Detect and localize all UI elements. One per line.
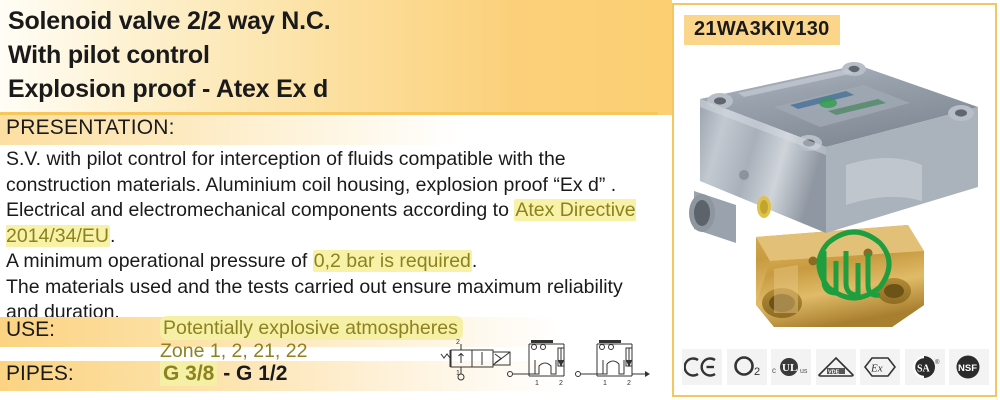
svg-text:VDE: VDE [828,369,840,375]
pipes-value-highlight: G 3/8 [160,361,217,386]
use-value-line-2: Zone 1, 2, 21, 22 [160,340,307,362]
svg-text:2: 2 [754,366,760,378]
svg-text:Ex: Ex [870,363,883,375]
svg-text:us: us [800,368,808,375]
title-line-3: Explosion proof - Atex Ex d [8,72,658,106]
left-content-column: Solenoid valve 2/2 way N.C. With pilot c… [0,0,658,400]
csa-icon: SA ® [905,349,945,385]
brass-valve-body [756,225,924,327]
svg-text:2: 2 [456,339,460,346]
datasheet-page: Solenoid valve 2/2 way N.C. With pilot c… [0,0,1000,400]
nsf-icon: NSF [949,349,989,385]
title-line-1: Solenoid valve 2/2 way N.C. [8,4,658,38]
svg-text:1: 1 [603,380,607,387]
product-panel-inner: 21WA3KIV130 [676,7,993,393]
svg-text:2: 2 [559,380,563,387]
presentation-paragraph: S.V. with pilot control for interception… [6,147,646,326]
use-value: Potentially explosive atmospheres Zone 1… [160,316,463,362]
highlight-minimum-pressure: 0,2 bar is required [313,250,472,272]
iso-valve-symbol [441,344,510,380]
pipes-label: PIPES: [6,362,74,386]
paragraph-text-2: . [110,225,115,247]
paragraph-text-4: . [472,250,477,272]
certification-strip: 2 c UL us [680,347,991,387]
svg-text:1: 1 [535,380,539,387]
right-gold-accent-bar [658,0,672,115]
product-code-badge: 21WA3KIV130 [684,15,840,45]
svg-text:2: 2 [627,380,631,387]
product-panel: 21WA3KIV130 [672,3,997,397]
ce-icon [682,349,722,385]
valve-schematic-diagrams: 2 1 [437,336,657,396]
svg-text:c: c [772,366,776,375]
pipes-value-rest: - G 1/2 [217,362,287,385]
presentation-label: PRESENTATION: [6,116,175,140]
title-line-2: With pilot control [8,38,658,72]
valve-section-closed: 1 2 [508,340,565,387]
use-label: USE: [6,318,55,342]
svg-text:UL: UL [782,362,797,374]
product-photo [678,55,995,351]
aluminium-coil-housing [689,62,978,243]
ul-icon: c UL us [771,349,811,385]
pipes-value: G 3/8 - G 1/2 [160,362,287,386]
svg-text:1: 1 [456,370,460,377]
atex-ex-icon: Ex [860,349,900,385]
svg-text:®: ® [935,359,940,366]
valve-section-open: 1 2 [576,340,650,387]
title-band: Solenoid valve 2/2 way N.C. With pilot c… [0,0,658,112]
use-value-line-1: Potentially explosive atmospheres [160,316,463,340]
svg-text:NSF: NSF [958,363,977,374]
vde-icon: VDE [816,349,856,385]
svg-text:SA: SA [917,364,931,375]
paragraph-text-3: A minimum operational pressure of [6,250,313,272]
o2-icon: 2 [727,349,767,385]
